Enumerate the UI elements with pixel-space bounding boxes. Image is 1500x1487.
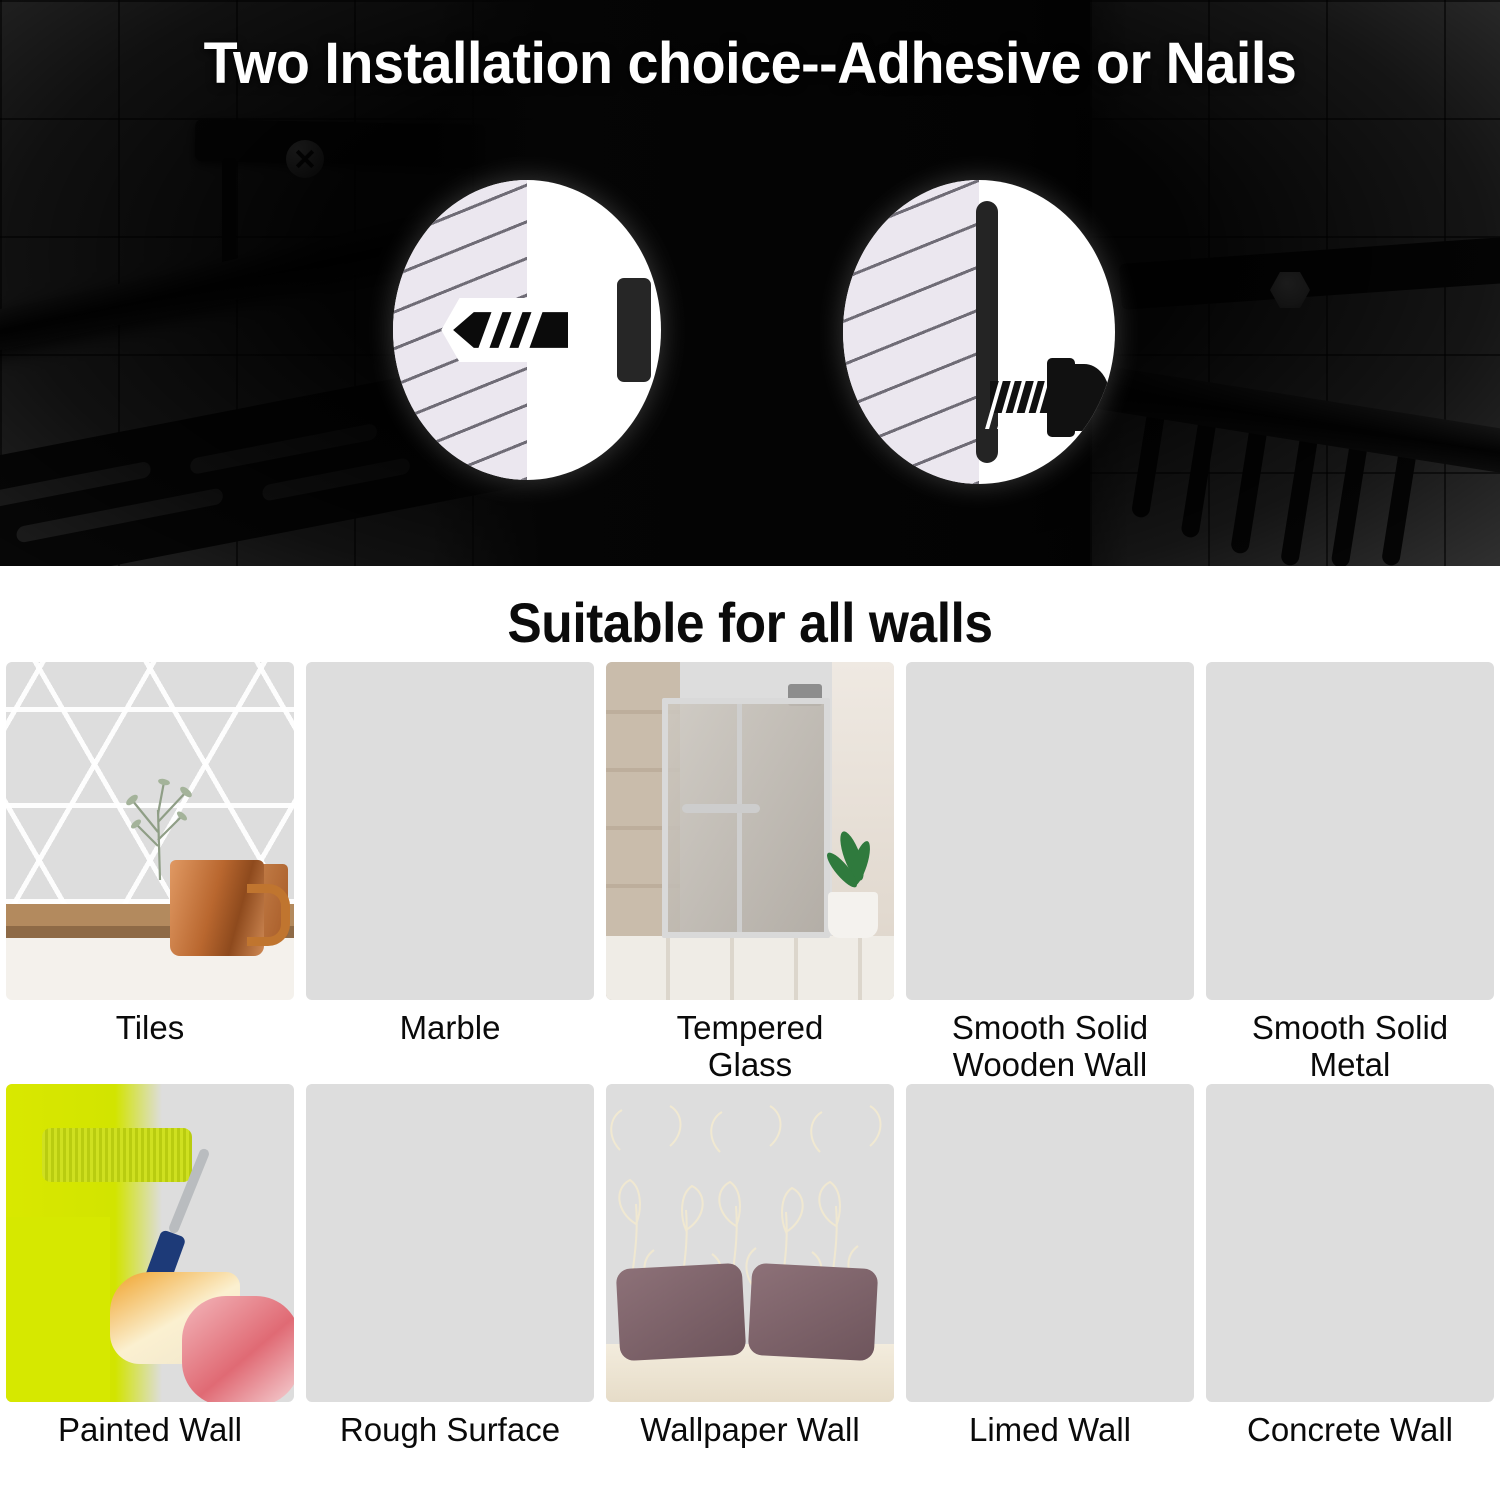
wall-type-label: Tempered Glass	[600, 1000, 900, 1084]
wall-type-label: Rough Surface	[300, 1402, 600, 1449]
wall-type-card-metal[interactable]: Smooth Solid Metal	[1200, 662, 1500, 1084]
nail-icon	[441, 298, 639, 362]
adhesive-screw-icon	[990, 362, 1104, 432]
wall-type-label: Tiles	[0, 1000, 300, 1047]
wall-type-card-rough-surface[interactable]: Rough Surface	[300, 1084, 600, 1449]
nail-installation-diagram	[393, 180, 661, 480]
suitable-walls-section: Suitable for all walls	[0, 566, 1500, 1487]
adhesive-installation-diagram	[843, 180, 1115, 484]
wall-type-card-tempered-glass[interactable]: Tempered Glass	[600, 662, 900, 1084]
wall-type-label: Smooth Solid Wooden Wall	[900, 1000, 1200, 1084]
wall-type-card-wallpaper-wall[interactable]: Wallpaper Wall	[600, 1084, 900, 1449]
plant-sprig-icon	[120, 770, 198, 880]
wall-type-card-painted-wall[interactable]: Painted Wall	[0, 1084, 300, 1449]
wall-type-label: Concrete Wall	[1200, 1402, 1500, 1449]
pillow-left	[616, 1263, 747, 1361]
wallpaper-wall-thumbnail	[606, 1084, 894, 1402]
walls-section-title: Suitable for all walls	[60, 590, 1440, 655]
wall-type-card-concrete-wall[interactable]: Concrete Wall	[1200, 1084, 1500, 1449]
banner-title: Two Installation choice--Adhesive or Nai…	[30, 30, 1470, 97]
wall-type-card-marble[interactable]: Marble	[300, 662, 600, 1084]
wall-type-card-limed-wall[interactable]: Limed Wall	[900, 1084, 1200, 1449]
pillow-right	[748, 1263, 879, 1361]
wall-type-card-tiles[interactable]: Tiles	[0, 662, 300, 1084]
mounting-plate-icon	[617, 278, 651, 383]
installation-banner: Two Installation choice--Adhesive or Nai…	[0, 0, 1500, 566]
tiles-thumbnail	[6, 662, 294, 1000]
concrete-wall-thumbnail	[1206, 1084, 1494, 1402]
painted-wall-thumbnail	[6, 1084, 294, 1402]
wall-types-grid: Tiles Marble	[0, 662, 1500, 1449]
paint-roller-icon	[42, 1128, 192, 1182]
wooden-wall-thumbnail	[906, 662, 1194, 1000]
wall-type-card-wooden-wall[interactable]: Smooth Solid Wooden Wall	[900, 662, 1200, 1084]
shower-door	[662, 698, 830, 938]
rough-surface-thumbnail	[306, 1084, 594, 1402]
limed-wall-thumbnail	[906, 1084, 1194, 1402]
wall-type-label: Marble	[300, 1000, 600, 1047]
shower-door-handle-icon	[682, 804, 760, 813]
wall-cross-section-hatch	[843, 180, 979, 484]
wall-type-label: Painted Wall	[0, 1402, 300, 1449]
protective-sleeve	[182, 1296, 294, 1402]
marble-thumbnail	[306, 662, 594, 1000]
metal-thumbnail	[1206, 662, 1494, 1000]
wall-type-label: Smooth Solid Metal	[1200, 1000, 1500, 1084]
tempered-glass-thumbnail	[606, 662, 894, 1000]
wall-type-label: Limed Wall	[900, 1402, 1200, 1449]
potted-plant-icon	[826, 830, 878, 938]
wall-type-label: Wallpaper Wall	[600, 1402, 900, 1449]
